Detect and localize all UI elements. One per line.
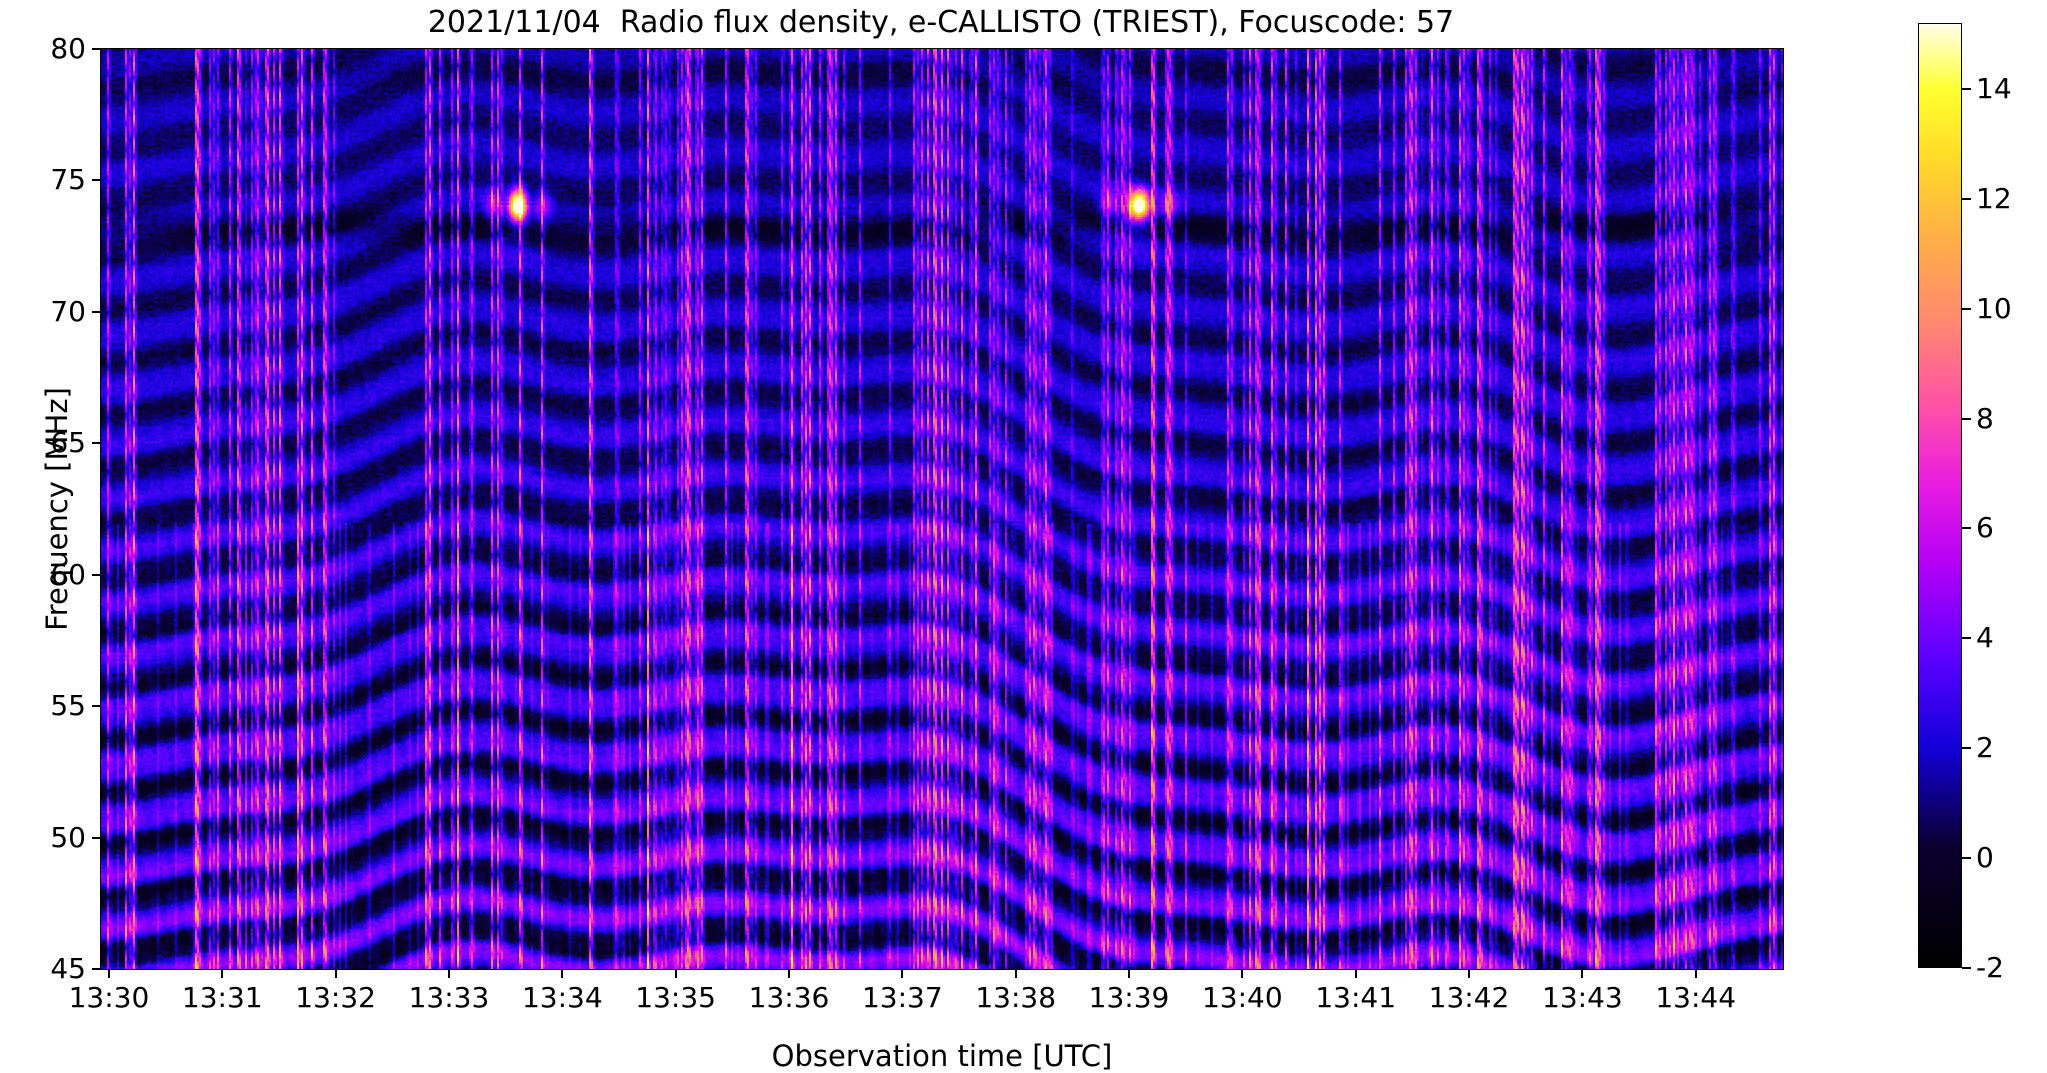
tick-mark — [1962, 198, 1971, 200]
colorbar: -202468101214 dB above background — [1918, 23, 1962, 968]
y-tick-label: 70 — [50, 294, 86, 330]
x-tick-label: 13:41 — [1315, 981, 1396, 1015]
tick-mark — [1962, 967, 1971, 969]
x-tick-label: 13:44 — [1655, 981, 1736, 1015]
y-tick-label: 65 — [50, 425, 86, 461]
colorbar-gradient — [1918, 23, 1962, 968]
page-title: 2021/11/04 Radio flux density, e-CALLIST… — [100, 4, 1782, 42]
tick-mark — [1962, 88, 1971, 90]
y-axis-label: Frequency [MHz] — [40, 387, 74, 631]
tick-mark — [561, 969, 563, 978]
tick-mark — [788, 969, 790, 978]
y-tick-label: 55 — [50, 688, 86, 724]
y-tick-label: 80 — [50, 31, 86, 67]
colorbar-tick-label: 2 — [1976, 730, 1994, 766]
x-tick-label: 13:30 — [69, 981, 150, 1015]
spectrogram-image — [101, 49, 1783, 969]
tick-mark — [1962, 418, 1971, 420]
x-tick-label: 13:31 — [182, 981, 263, 1015]
tick-mark — [92, 837, 101, 839]
tick-mark — [1468, 969, 1470, 978]
x-tick-label: 13:42 — [1429, 981, 1510, 1015]
x-tick-label: 13:36 — [749, 981, 830, 1015]
colorbar-tick-label: -2 — [1976, 950, 2004, 986]
figure-canvas: 2021/11/04 Radio flux density, e-CALLIST… — [0, 0, 2047, 1067]
tick-mark — [92, 574, 101, 576]
tick-mark — [92, 705, 101, 707]
colorbar-tick-label: 6 — [1976, 510, 1994, 546]
tick-mark — [1695, 969, 1697, 978]
tick-mark — [1015, 969, 1017, 978]
tick-mark — [1241, 969, 1243, 978]
tick-mark — [1128, 969, 1130, 978]
tick-mark — [221, 969, 223, 978]
tick-mark — [1581, 969, 1583, 978]
colorbar-tick-label: 10 — [1976, 291, 2012, 327]
y-tick-label: 75 — [50, 162, 86, 198]
tick-mark — [92, 179, 101, 181]
tick-mark — [1962, 637, 1971, 639]
tick-mark — [1962, 857, 1971, 859]
x-tick-label: 13:37 — [862, 981, 943, 1015]
tick-mark — [92, 442, 101, 444]
tick-mark — [108, 969, 110, 978]
x-tick-label: 13:35 — [635, 981, 716, 1015]
colorbar-tick-label: 12 — [1976, 181, 2012, 217]
x-tick-label: 13:43 — [1542, 981, 1623, 1015]
x-tick-label: 13:39 — [1089, 981, 1170, 1015]
tick-mark — [1962, 747, 1971, 749]
tick-mark — [1962, 308, 1971, 310]
x-axis-label: Observation time [UTC] — [772, 1039, 1113, 1073]
spectrogram-axes: Frequency [MHz] 8075706560555045 Observa… — [100, 48, 1784, 970]
tick-mark — [92, 48, 101, 50]
tick-mark — [1962, 527, 1971, 529]
tick-mark — [92, 968, 101, 970]
x-tick-label: 13:32 — [295, 981, 376, 1015]
colorbar-tick-label: 8 — [1976, 401, 1994, 437]
x-tick-label: 13:40 — [1202, 981, 1283, 1015]
tick-mark — [92, 311, 101, 313]
x-tick-label: 13:34 — [522, 981, 603, 1015]
tick-mark — [1355, 969, 1357, 978]
y-tick-label: 50 — [50, 820, 86, 856]
colorbar-tick-label: 14 — [1976, 71, 2012, 107]
colorbar-tick-label: 0 — [1976, 840, 1994, 876]
tick-mark — [448, 969, 450, 978]
y-tick-label: 60 — [50, 557, 86, 593]
tick-mark — [335, 969, 337, 978]
tick-mark — [675, 969, 677, 978]
x-tick-label: 13:38 — [975, 981, 1056, 1015]
colorbar-tick-label: 4 — [1976, 620, 1994, 656]
tick-mark — [901, 969, 903, 978]
x-tick-label: 13:33 — [409, 981, 490, 1015]
